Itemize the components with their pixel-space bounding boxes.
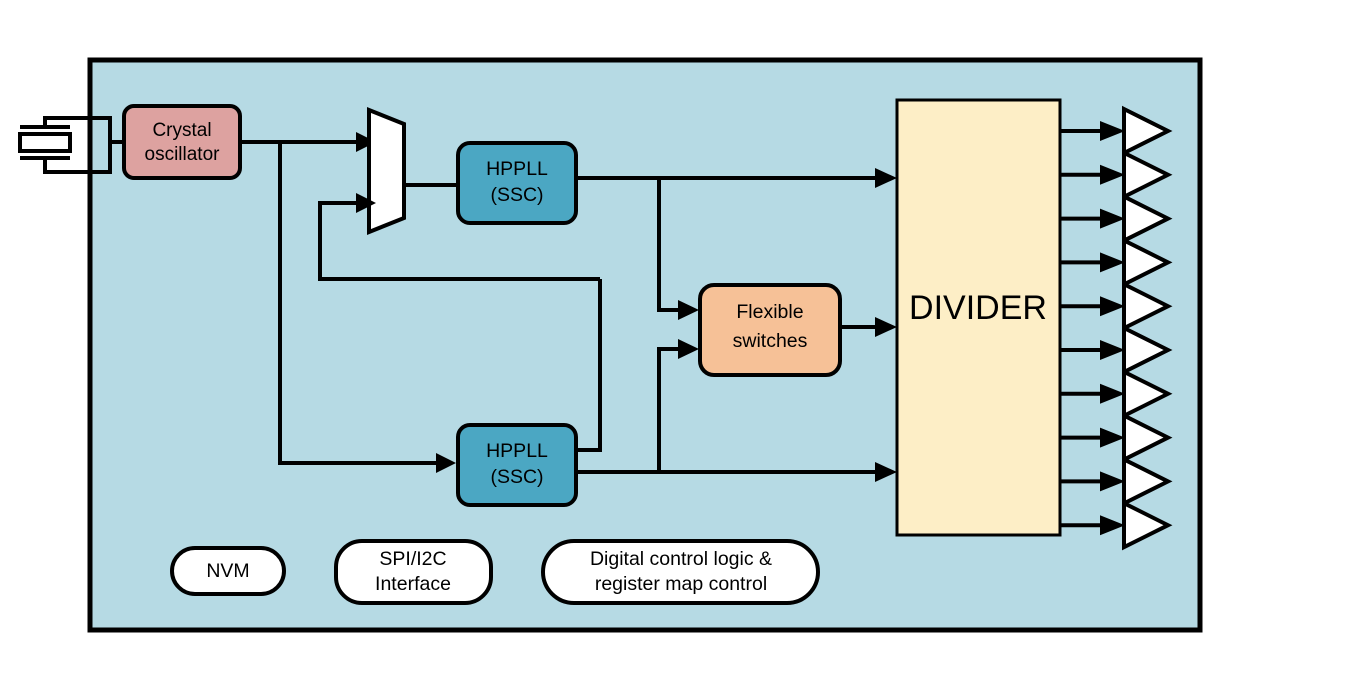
hppll-top-label-line2: (SSC) [490, 184, 543, 206]
hppll-top-label-line1: HPPLL [486, 158, 548, 180]
hppll-top-box[interactable] [458, 143, 576, 223]
digital-control-logic-block[interactable]: Digital control logic & register map con… [543, 541, 818, 603]
flexible-switches-label-line2: switches [733, 330, 808, 352]
flexible-switches-block[interactable]: Flexible switches [700, 285, 840, 375]
hppll-bottom-label-line2: (SSC) [490, 466, 543, 488]
diagram-svg: Crystal oscillator HPPLL [0, 0, 1355, 685]
divider-label: DIVIDER [909, 289, 1047, 327]
crystal-oscillator-label-line1: Crystal [152, 120, 211, 141]
hppll-bottom-label-line1: HPPLL [486, 440, 548, 462]
hppll-top-block[interactable]: HPPLL (SSC) [458, 143, 576, 223]
crystal-oscillator-box[interactable] [124, 106, 240, 178]
hppll-bottom-box[interactable] [458, 425, 576, 505]
flexible-switches-label-line1: Flexible [736, 301, 803, 323]
block-diagram-canvas: Crystal oscillator HPPLL [0, 0, 1355, 685]
crystal-oscillator-label-line2: oscillator [145, 144, 221, 165]
spi-i2c-interface-block[interactable]: SPI/I2C Interface [336, 541, 491, 603]
crystal-oscillator-block[interactable]: Crystal oscillator [124, 106, 240, 178]
nvm-block[interactable]: NVM [172, 548, 284, 594]
digital-control-label-line1: Digital control logic & [590, 548, 772, 570]
input-mux-block[interactable] [369, 110, 404, 232]
hppll-bottom-block[interactable]: HPPLL (SSC) [458, 425, 576, 505]
input-mux-shape[interactable] [369, 110, 404, 232]
crystal-resonator-icon [20, 118, 126, 172]
spi-i2c-label-line1: SPI/I2C [379, 548, 446, 570]
digital-control-label-line2: register map control [595, 573, 767, 595]
nvm-label: NVM [206, 560, 249, 582]
divider-block[interactable]: DIVIDER [897, 100, 1060, 535]
spi-i2c-label-line2: Interface [375, 573, 451, 595]
